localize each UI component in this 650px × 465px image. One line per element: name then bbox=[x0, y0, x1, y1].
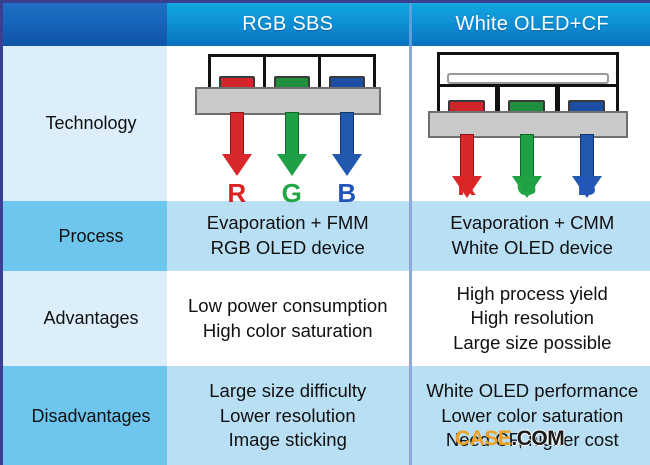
cell-text-line: White OLED performance bbox=[412, 379, 650, 404]
table-row-technology: Technology bbox=[3, 46, 650, 201]
cell-text-line: White OLED device bbox=[412, 236, 650, 261]
oled-comparison-table: RGB SBS White OLED+CF Technology bbox=[0, 0, 650, 465]
rgb-label-r: R bbox=[222, 176, 252, 211]
row-label-technology: Technology bbox=[3, 46, 167, 201]
rgb-label-b: B bbox=[572, 169, 602, 204]
cell-process-rgb-sbs: Evaporation + FMM RGB OLED device bbox=[167, 201, 410, 271]
row-label-advantages: Advantages bbox=[3, 271, 167, 366]
cell-advantages-white-oled-cf: High process yield High resolution Large… bbox=[410, 271, 650, 366]
header-blank-cell bbox=[3, 3, 167, 46]
table-row-process: Process Evaporation + FMM RGB OLED devic… bbox=[3, 201, 650, 271]
cell-text-line: RGB OLED device bbox=[167, 236, 409, 261]
table-header-row: RGB SBS White OLED+CF bbox=[3, 3, 650, 46]
cell-process-white-oled-cf: Evaporation + CMM White OLED device bbox=[410, 201, 650, 271]
cell-advantages-rgb-sbs: Low power consumption High color saturat… bbox=[167, 271, 410, 366]
row-label-process: Process bbox=[3, 201, 167, 271]
cell-text-line: Large size difficulty bbox=[167, 379, 409, 404]
table-row-disadvantages: Disadvantages Large size difficulty Lowe… bbox=[3, 366, 650, 465]
cell-text-line: High resolution bbox=[412, 306, 650, 331]
cell-text-line: Evaporation + CMM bbox=[412, 211, 650, 236]
cell-text-line: Image sticking bbox=[167, 428, 409, 453]
cell-technology-rgb-sbs: R G B bbox=[167, 46, 410, 201]
row-label-disadvantages: Disadvantages bbox=[3, 366, 167, 465]
cell-text-line: High process yield bbox=[412, 282, 650, 307]
cell-text-line: Low power consumption bbox=[167, 294, 409, 319]
header-white-oled-cf: White OLED+CF bbox=[410, 3, 650, 46]
cell-text-line: Evaporation + FMM bbox=[167, 211, 409, 236]
rgb-label-r: R bbox=[452, 169, 482, 204]
substrate-layer bbox=[195, 87, 381, 115]
white-oled-cf-stack-diagram: R G B bbox=[425, 50, 640, 198]
comparison-table-screenshot: RGB SBS White OLED+CF Technology bbox=[0, 0, 650, 465]
cell-text-line: Lower resolution bbox=[167, 404, 409, 429]
rgb-label-b: B bbox=[332, 176, 362, 211]
white-oled-layer bbox=[447, 73, 609, 84]
cell-text-line: Large size possible bbox=[412, 331, 650, 356]
cell-disadvantages-white-oled-cf: White OLED performance Lower color satur… bbox=[410, 366, 650, 465]
cell-text-line: Need CF, higher cost bbox=[412, 428, 650, 453]
cell-text-line: High color saturation bbox=[167, 319, 409, 344]
cell-disadvantages-rgb-sbs: Large size difficulty Lower resolution I… bbox=[167, 366, 410, 465]
header-rgb-sbs: RGB SBS bbox=[167, 3, 410, 46]
rgb-label-g: G bbox=[512, 169, 542, 204]
cell-text-line: Lower color saturation bbox=[412, 404, 650, 429]
cell-technology-white-oled-cf: R G B bbox=[410, 46, 650, 201]
table-row-advantages: Advantages Low power consumption High co… bbox=[3, 271, 650, 366]
rgb-label-g: G bbox=[277, 176, 307, 211]
rgb-sbs-stack-diagram: R G B bbox=[188, 50, 388, 198]
